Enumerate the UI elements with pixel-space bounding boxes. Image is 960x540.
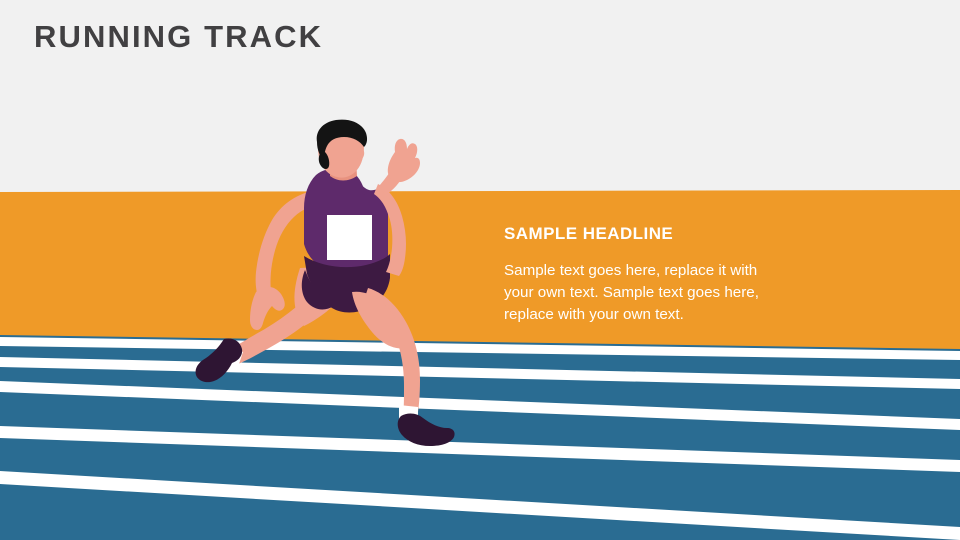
- runner-front-thigh: [352, 292, 405, 349]
- lane-line: [0, 337, 960, 360]
- runner-singlet-strap: [350, 171, 365, 195]
- runner-forearm: [379, 150, 412, 195]
- slide-canvas: RUNNING TRACK SAMPLE HEADLINE Sample tex…: [0, 0, 960, 540]
- page-title: RUNNING TRACK: [34, 18, 323, 55]
- runner-rear-thigh: [294, 268, 344, 326]
- lane-line: [0, 426, 960, 472]
- runner-back-hand: [250, 287, 285, 330]
- runner-front-leg: [364, 288, 420, 418]
- runner-front-arm: [374, 184, 406, 276]
- runner-head: [318, 123, 364, 178]
- lane-line: [0, 381, 960, 430]
- sample-headline: SAMPLE HEADLINE: [504, 224, 794, 244]
- content-text-block: SAMPLE HEADLINE Sample text goes here, r…: [504, 224, 794, 326]
- runner-singlet: [304, 168, 388, 276]
- runner-ear: [357, 148, 364, 160]
- runner-rear-sock: [216, 344, 243, 370]
- runner-illustration: [0, 0, 960, 540]
- lane-line: [0, 471, 960, 540]
- runner-shorts-hem: [302, 270, 334, 309]
- runner-rear-shoe: [196, 338, 243, 382]
- runner-front-sock: [399, 405, 418, 428]
- running-track: [0, 0, 960, 540]
- orange-band: [0, 0, 960, 540]
- runner-front-shoe: [398, 414, 455, 446]
- runner-front-hand: [388, 139, 420, 182]
- runner-neck: [330, 160, 357, 181]
- runner-hair-lock: [319, 152, 330, 169]
- runner-shorts: [304, 254, 390, 313]
- runner-bib: [327, 215, 372, 260]
- runner-hair: [317, 120, 367, 160]
- lane-line: [0, 357, 960, 389]
- sample-body-text: Sample text goes here, replace it with y…: [504, 260, 786, 327]
- runner-rear-leg: [230, 286, 338, 364]
- runner-back-arm: [256, 191, 319, 300]
- track-surface: [0, 335, 960, 540]
